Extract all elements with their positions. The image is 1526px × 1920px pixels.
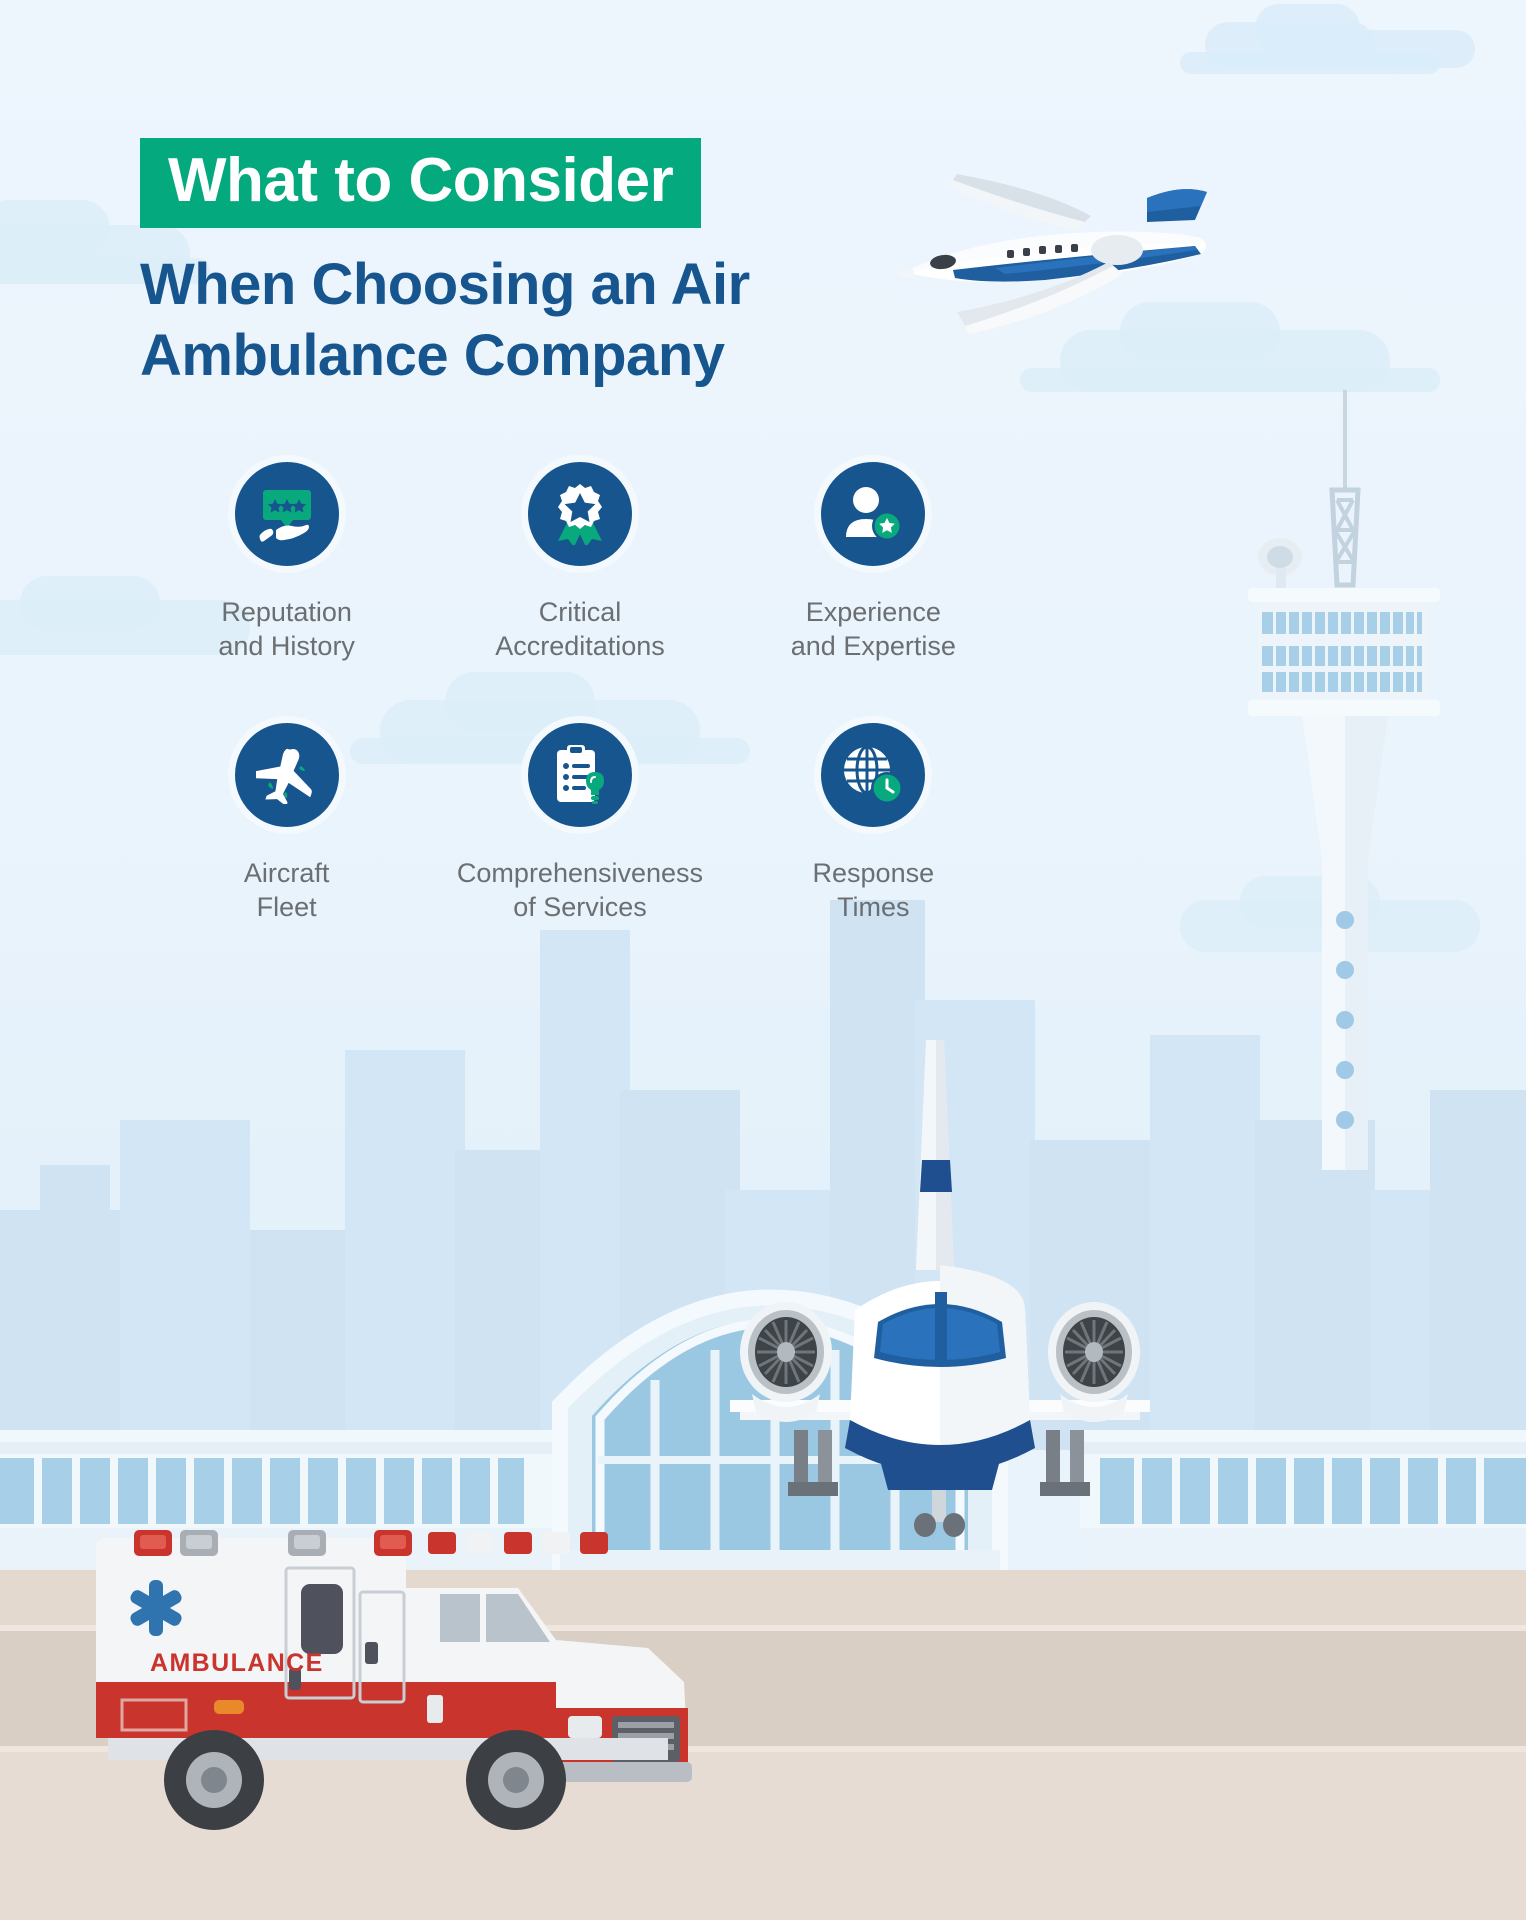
- person-star-icon: [843, 485, 903, 543]
- airplane-icon: [256, 746, 318, 804]
- consideration-label: Aircraft Fleet: [244, 856, 330, 925]
- consideration-label: Reputation and History: [218, 595, 355, 664]
- business-jet-flying: [895, 150, 1225, 360]
- reputation-icon-circle[interactable]: [228, 455, 346, 573]
- award-badge-icon: [550, 483, 610, 545]
- services-icon-circle[interactable]: [521, 716, 639, 834]
- cloud-shape: [1180, 52, 1440, 74]
- experience-icon-circle[interactable]: [814, 455, 932, 573]
- considerations-row-2: Aircraft Fleet: [140, 716, 1020, 925]
- response-times-icon-circle[interactable]: [814, 716, 932, 834]
- globe-clock-icon: [843, 746, 903, 804]
- consideration-item-services[interactable]: Comprehensiveness of Services: [433, 716, 726, 925]
- considerations-grid: Reputation and History Critical Accredit…: [140, 455, 1020, 924]
- clipboard-bulb-icon: [551, 744, 609, 806]
- cloud-shape: [1255, 4, 1360, 52]
- review-hand-stars-icon: [256, 486, 318, 542]
- consideration-label: Experience and Expertise: [791, 595, 956, 664]
- consideration-item-experience[interactable]: Experience and Expertise: [727, 455, 1020, 664]
- consideration-item-reputation[interactable]: Reputation and History: [140, 455, 433, 664]
- aircraft-fleet-icon-circle[interactable]: [228, 716, 346, 834]
- considerations-row-1: Reputation and History Critical Accredit…: [140, 455, 1020, 664]
- consideration-label: Response Times: [813, 856, 935, 925]
- title-badge: What to Consider: [140, 138, 701, 228]
- consideration-item-response-times[interactable]: Response Times: [727, 716, 1020, 925]
- title-block: What to Consider When Choosing an Air Am…: [140, 138, 900, 392]
- consideration-label: Critical Accreditations: [495, 595, 665, 664]
- airport-control-tower: [1240, 390, 1450, 1170]
- title-subtitle: When Choosing an Air Ambulance Company: [140, 250, 900, 392]
- consideration-item-aircraft-fleet[interactable]: Aircraft Fleet: [140, 716, 433, 925]
- ambulance-label: AMBULANCE: [150, 1649, 324, 1678]
- cloud-shape: [1020, 368, 1440, 392]
- cloud-shape: [20, 576, 160, 630]
- consideration-label: Comprehensiveness of Services: [457, 856, 703, 925]
- consideration-item-accreditations[interactable]: Critical Accreditations: [433, 455, 726, 664]
- infographic-poster: AMBULANCE: [0, 0, 1526, 1920]
- cloud-shape: [0, 200, 110, 256]
- business-jet-front-view: [730, 1020, 1150, 1540]
- accreditations-icon-circle[interactable]: [521, 455, 639, 573]
- ambulance-vehicle: AMBULANCE: [88, 1530, 708, 1920]
